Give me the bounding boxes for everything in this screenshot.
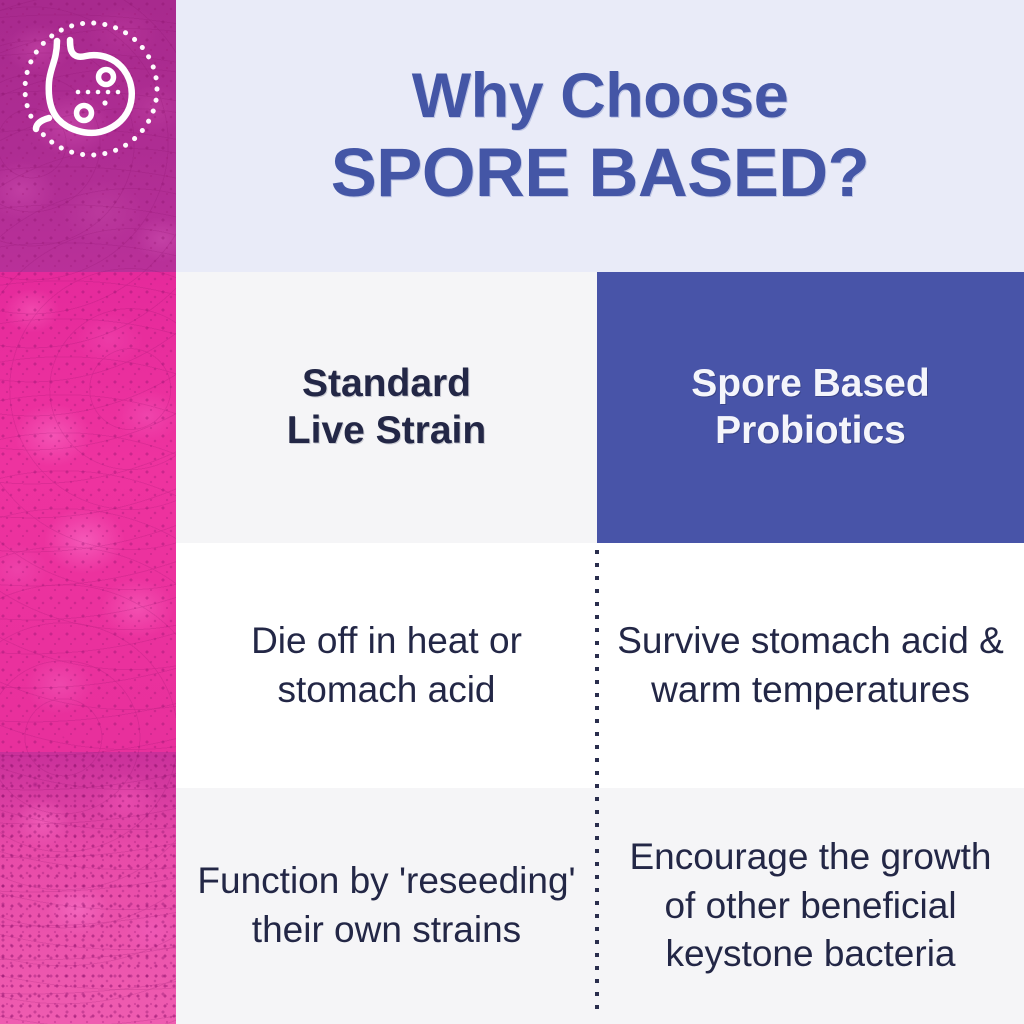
column-header-standard-line1: Standard: [302, 362, 471, 405]
cell-spore-row-0: Survive stomach acid & warm temperatures: [597, 543, 1024, 788]
cell-standard-row-1: Function by 'reseeding' their own strain…: [176, 788, 597, 1024]
cell-standard-row-0: Die off in heat or stomach acid: [176, 543, 597, 788]
brand-texture-panel: [0, 0, 176, 1024]
interior-dot-row: [76, 90, 121, 95]
column-header-standard: Standard Live Strain: [176, 272, 597, 543]
page-title-line-1: Why Choose: [412, 63, 789, 130]
header-band: Why Choose SPORE BASED?: [176, 0, 1024, 272]
table-header-row: Standard Live Strain Spore Based Probiot…: [176, 272, 1024, 543]
spore-dot-small: [102, 100, 107, 105]
speckle-overlay-dense: [0, 752, 176, 1024]
table-row: Function by 'reseeding' their own strain…: [176, 788, 1024, 1024]
spore-circle-large-upper: [99, 70, 114, 85]
column-header-standard-line2: Live Strain: [287, 409, 486, 452]
page-title-line-2: SPORE BASED?: [331, 136, 869, 209]
table-row: Die off in heat or stomach acid Survive …: [176, 543, 1024, 788]
column-header-spore-line1: Spore Based: [691, 362, 929, 405]
stomach-icon: [16, 14, 166, 164]
column-header-spore-line2: Probiotics: [715, 409, 906, 452]
infographic-root: Why Choose SPORE BASED? Standard Live St…: [0, 0, 1024, 1024]
cell-spore-row-1: Encourage the growth of other beneficial…: [597, 788, 1024, 1024]
column-dotted-divider: [595, 550, 599, 1018]
column-header-standard-text: Standard Live Strain: [287, 361, 486, 453]
comparison-table: Standard Live Strain Spore Based Probiot…: [176, 272, 1024, 1024]
column-header-spore: Spore Based Probiotics: [597, 272, 1024, 543]
spore-circle-large-lower: [77, 106, 92, 121]
column-header-spore-text: Spore Based Probiotics: [691, 361, 929, 453]
